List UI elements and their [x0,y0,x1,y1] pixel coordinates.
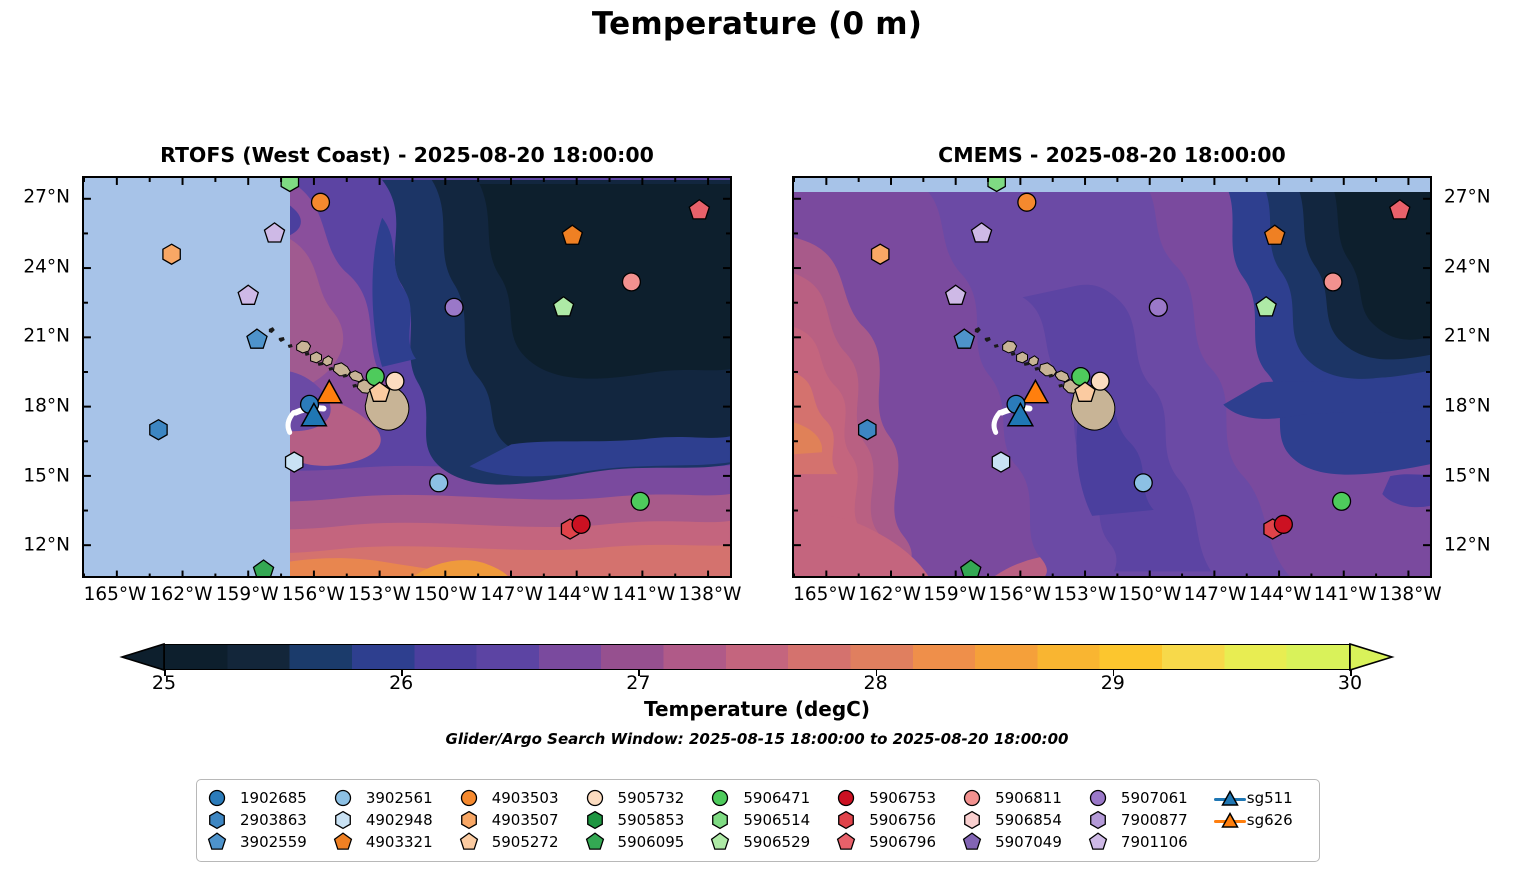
legend-glyph-circle [709,788,731,808]
y-tick-label: 24°N [1444,256,1491,277]
legend-label-5905732: 5905732 [618,787,710,809]
legend-label-2903863: 2903863 [240,809,332,831]
legend-glyph-pentagon [835,832,857,852]
legend-label-5907049: 5907049 [995,831,1087,853]
legend-glyph-circle [458,788,480,808]
legend-label-3902559: 3902559 [240,831,332,853]
cmems-axis-ticks [794,178,1430,577]
legend-marker-5906854 [961,809,995,831]
colorbar-gradient [164,644,1350,670]
y-tick-label: 15°N [23,465,70,486]
legend-marker-5906471 [709,787,743,809]
y-tick-label: 27°N [1444,186,1491,207]
rtofs-axis-ticks [84,178,730,578]
x-tick-label: 138°W [1379,584,1442,605]
legend-glyph-pentagon [458,832,480,852]
colorbar-title: Temperature (degC) [0,697,1514,721]
legend-marker-5905732 [584,787,618,809]
legend-glyph-circle [961,788,983,808]
legend-label-5906756: 5906756 [869,809,961,831]
legend-glyph-pentagon [961,832,983,852]
colorbar-min-extend [122,644,164,670]
colorbar-tick [638,670,640,676]
legend-label-7901106: 7901106 [1121,831,1213,853]
platform-legend[interactable]: 1902685390256149035035905732590647159067… [196,779,1320,862]
legend-label-3902561: 3902561 [366,787,458,809]
legend-label-5906796: 5906796 [869,831,961,853]
x-tick-label: 156°W [282,584,345,605]
legend-label-5905853: 5905853 [618,809,710,831]
x-tick-label: 144°W [1249,584,1312,605]
x-tick-label: 141°W [1314,584,1377,605]
legend-label-sg511: sg511 [1247,787,1310,809]
x-tick-label: 159°W [923,584,986,605]
x-tick-label: 153°W [348,584,411,605]
legend-glyph-hexagon [584,810,606,830]
y-tick-label: 21°N [1444,326,1491,347]
legend-marker-4903321 [332,831,366,853]
legend-marker-3902559 [206,831,240,853]
legend-marker-5907049 [961,831,995,853]
legend-row: 1902685390256149035035905732590647159067… [206,787,1310,809]
legend-row: 2903863490294849035075905853590651459067… [206,809,1310,831]
legend-marker-5906514 [709,809,743,831]
x-tick-label: 138°W [679,584,742,605]
y-tick-label: 18°N [23,396,70,417]
x-tick-label: 162°W [858,584,921,605]
y-tick-label: 27°N [23,186,70,207]
legend-label-1902685: 1902685 [240,787,332,809]
x-tick-label: 162°W [150,584,213,605]
y-tick-label: 21°N [23,326,70,347]
panel-rtofs: RTOFS (West Coast) - 2025-08-20 18:00:00 [82,176,732,578]
x-tick-label: 165°W [793,584,856,605]
legend-label-5905272: 5905272 [492,831,584,853]
x-tick-label: 153°W [1053,584,1116,605]
legend-label-5906854: 5906854 [995,809,1087,831]
y-tick-label: 12°N [1444,535,1491,556]
colorbar-tick [401,670,403,676]
legend-glyph-pentagon [1087,832,1109,852]
legend-marker-5906811 [961,787,995,809]
glider-track-swatch [1214,790,1246,808]
legend-marker-5906756 [835,809,869,831]
legend-marker-4903503 [458,787,492,809]
y-tick-label: 12°N [23,535,70,556]
legend-marker-5906529 [709,831,743,853]
x-tick-label: 147°W [480,584,543,605]
colorbar-tick [164,670,166,676]
map-cmems[interactable] [792,176,1432,578]
legend-glyph-pentagon [584,832,606,852]
legend-marker-5906796 [835,831,869,853]
colorbar-max-extend [1350,644,1392,670]
legend-glyph-circle [332,788,354,808]
x-tick-label: 165°W [84,584,147,605]
legend-glyph-hexagon [835,810,857,830]
legend-marker-5906095 [584,831,618,853]
legend-label-5906811: 5906811 [995,787,1087,809]
legend-marker-2903863 [206,809,240,831]
panel-cmems: CMEMS - 2025-08-20 18:00:00 [792,176,1432,578]
legend-label-4902948: 4902948 [366,809,458,831]
legend-glyph-hexagon [332,810,354,830]
legend-label-5906471: 5906471 [743,787,835,809]
legend-glyph-hexagon [1087,810,1109,830]
legend-glyph-circle [206,788,228,808]
legend-marker-5905853 [584,809,618,831]
legend-glyph-circle [584,788,606,808]
legend-label-4903503: 4903503 [492,787,584,809]
x-tick-label: 156°W [988,584,1051,605]
legend-glyph-pentagon [709,832,731,852]
legend-marker-3902561 [332,787,366,809]
legend-marker-5907061 [1087,787,1121,809]
legend-glyph-hexagon [458,810,480,830]
legend-label-5906529: 5906529 [743,831,835,853]
legend-marker-5906753 [835,787,869,809]
legend-marker-7900877 [1087,809,1121,831]
legend-glyph-pentagon [332,832,354,852]
legend-label-7900877: 7900877 [1121,809,1213,831]
legend-glyph-circle [835,788,857,808]
legend-glyph-circle [1087,788,1109,808]
legend-label-5906753: 5906753 [869,787,961,809]
search-window-note: Glider/Argo Search Window: 2025-08-15 18… [0,730,1514,748]
x-tick-label: 147°W [1184,584,1247,605]
legend-glyph-hexagon [206,810,228,830]
x-tick-label: 159°W [216,584,279,605]
legend-label-4903321: 4903321 [366,831,458,853]
x-tick-label: 150°W [414,584,477,605]
colorbar-tick [1350,670,1352,676]
legend-label-4903507: 4903507 [492,809,584,831]
legend-label-5907061: 5907061 [1121,787,1213,809]
legend-marker-7901106 [1087,831,1121,853]
figure-title: Temperature (0 m) [0,6,1514,42]
glider-track-swatch [1214,812,1246,830]
legend-marker-5905272 [458,831,492,853]
panel-rtofs-title: RTOFS (West Coast) - 2025-08-20 18:00:00 [52,143,762,167]
y-tick-label: 24°N [23,256,70,277]
map-rtofs[interactable] [82,176,732,578]
legend-label-5906095: 5906095 [618,831,710,853]
legend-label-sg626: sg626 [1247,809,1310,831]
legend-glyph-hexagon [709,810,731,830]
legend-marker-sg511 [1213,787,1247,809]
legend-label-5906514: 5906514 [743,809,835,831]
legend-table: 1902685390256149035035905732590647159067… [206,787,1310,853]
colorbar[interactable]: 252627282930 [122,644,1392,670]
legend-marker-1902685 [206,787,240,809]
legend-glyph-pentagon [206,832,228,852]
legend-marker-4903507 [458,809,492,831]
colorbar-tick [876,670,878,676]
colorbar-tick [1113,670,1115,676]
y-tick-label: 18°N [1444,396,1491,417]
y-tick-label: 15°N [1444,465,1491,486]
legend-marker-4902948 [332,809,366,831]
x-tick-label: 144°W [546,584,609,605]
panel-cmems-title: CMEMS - 2025-08-20 18:00:00 [762,143,1462,167]
x-tick-label: 141°W [612,584,675,605]
legend-glyph-hexagon [961,810,983,830]
legend-marker-sg626 [1213,809,1247,831]
legend-row: 3902559490332159052725906095590652959067… [206,831,1310,853]
x-tick-label: 150°W [1119,584,1182,605]
